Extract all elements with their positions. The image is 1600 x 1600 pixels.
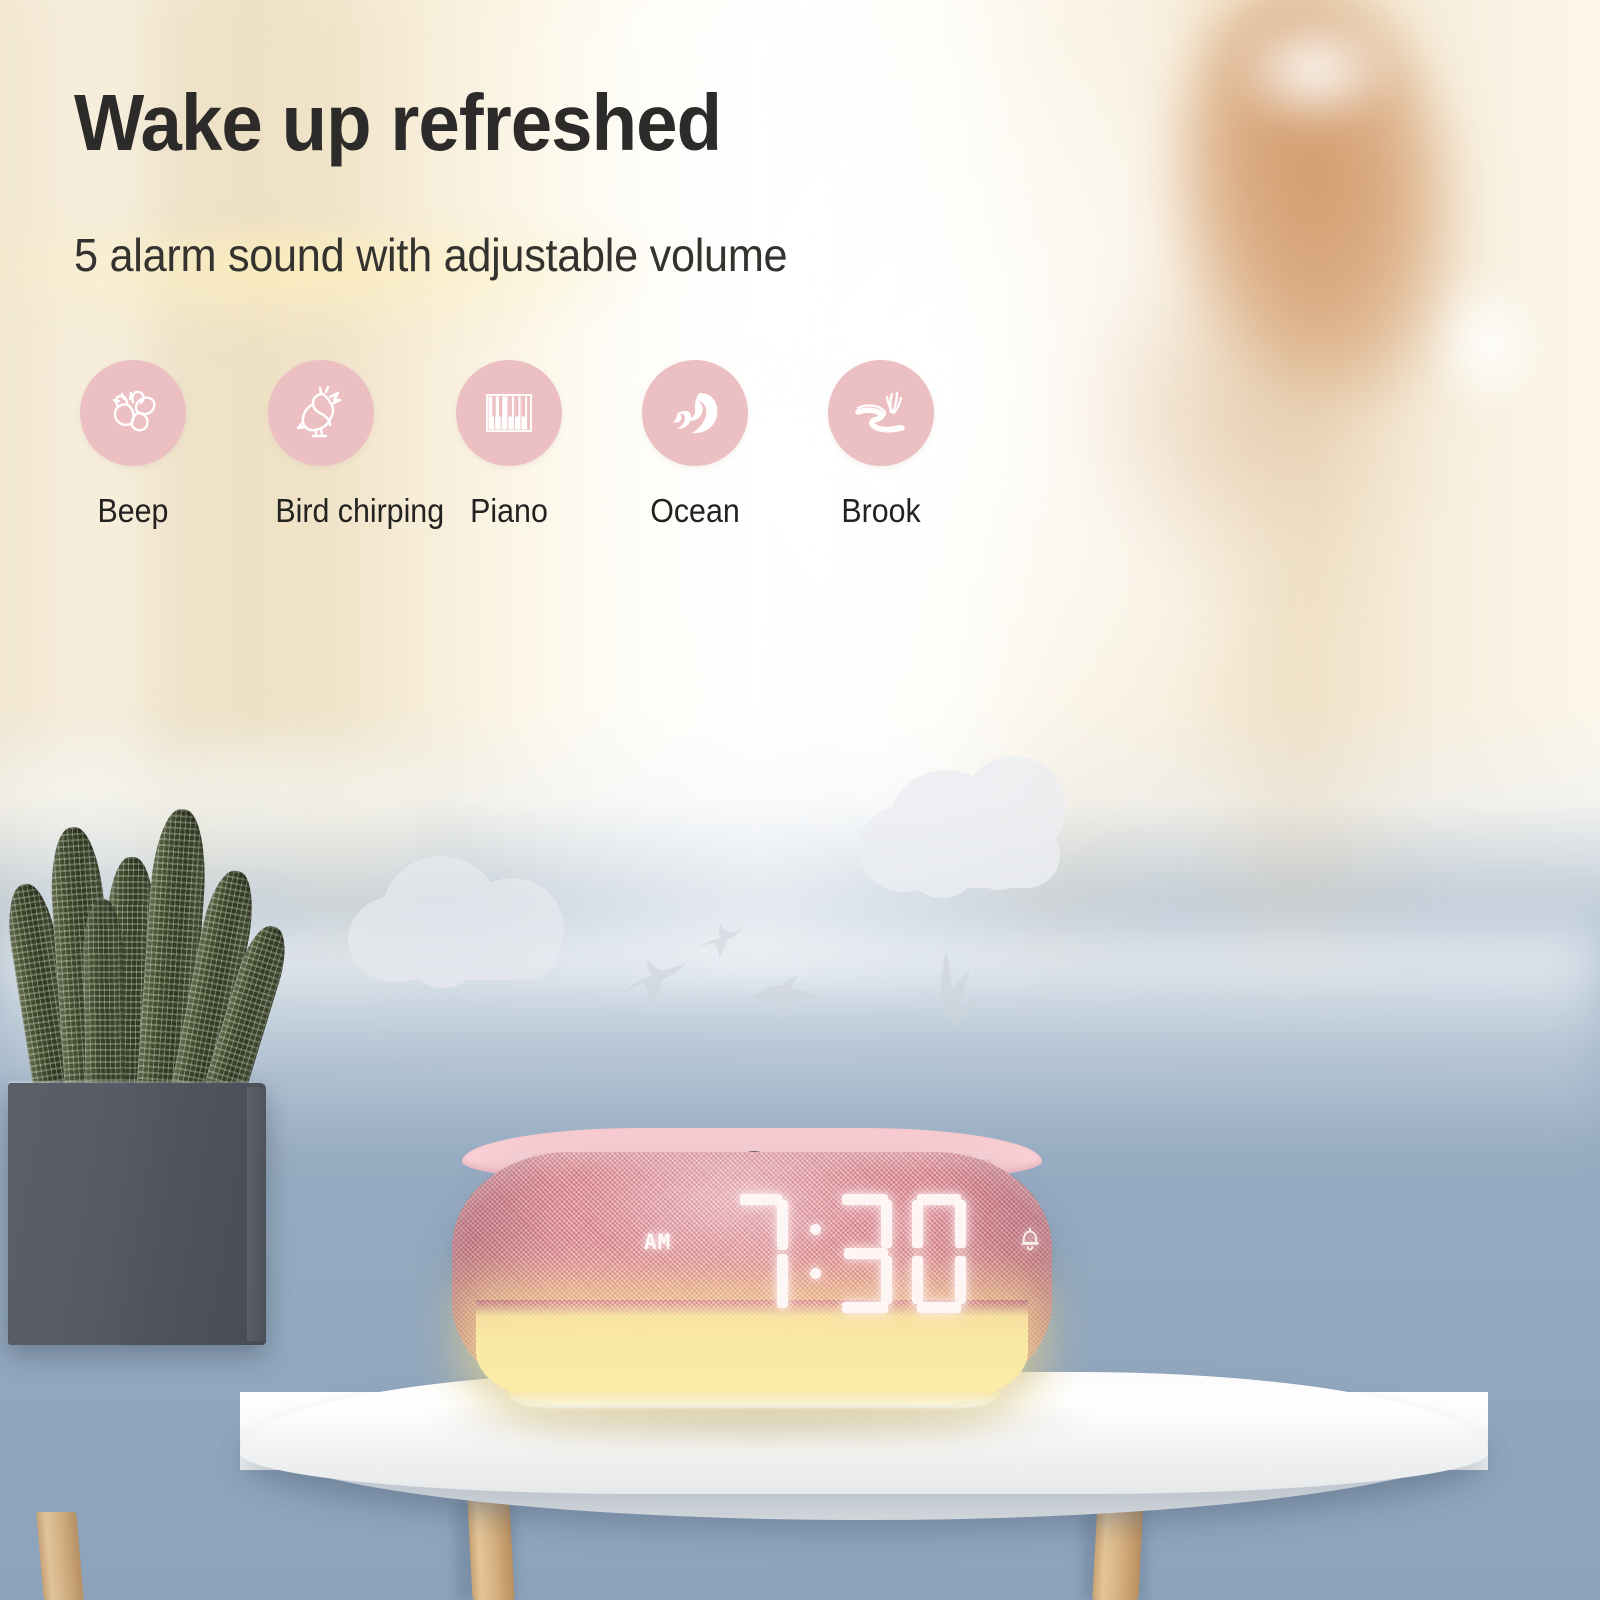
bird-decor-4 xyxy=(930,950,986,1030)
sound-option-bird[interactable]: Bird chirping xyxy=(268,360,451,530)
body-highlight xyxy=(582,1158,882,1268)
cactus-plant xyxy=(0,795,300,1395)
bee-icon-circle xyxy=(80,360,186,466)
bird-decor-1 xyxy=(618,950,690,1012)
bird-decor-3 xyxy=(750,975,828,1025)
night-light-base[interactable] xyxy=(476,1300,1028,1404)
highlight-glow-right xyxy=(1430,270,1550,420)
cactus-stems xyxy=(14,795,274,1095)
product-marketing-image: AM xyxy=(0,0,1600,1600)
sound-label-beep: Beep xyxy=(84,492,182,530)
table-leg-1 xyxy=(467,1500,514,1600)
alarm-sound-list: Beep xyxy=(68,360,968,550)
table-leg-3 xyxy=(36,1512,84,1600)
piano-icon xyxy=(480,385,538,441)
page-subtitle: 5 alarm sound with adjustable volume xyxy=(74,232,787,278)
wave-icon-circle xyxy=(642,360,748,466)
brook-icon xyxy=(850,382,912,444)
wave-icon xyxy=(664,382,726,444)
page-title: Wake up refreshed xyxy=(74,83,721,163)
bird-decor-2 xyxy=(696,918,744,960)
brook-icon-circle xyxy=(828,360,934,466)
sound-option-brook[interactable]: Brook xyxy=(828,360,934,530)
bird-icon xyxy=(290,382,352,444)
cloud-decor-left xyxy=(348,838,588,978)
device-foot xyxy=(508,1392,1000,1408)
sound-option-piano[interactable]: Piano xyxy=(456,360,562,530)
sound-option-ocean[interactable]: Ocean xyxy=(642,360,748,530)
bird-icon-circle xyxy=(268,360,374,466)
piano-icon-circle xyxy=(456,360,562,466)
sound-option-beep[interactable]: Beep xyxy=(80,360,186,530)
sound-label-piano: Piano xyxy=(460,492,558,530)
cloud-decor-right xyxy=(858,760,1078,895)
sound-label-brook: Brook xyxy=(832,492,930,530)
sound-label-bird: Bird chirping xyxy=(275,492,444,530)
sound-label-ocean: Ocean xyxy=(646,492,744,530)
bee-icon xyxy=(102,382,164,444)
alarm-clock-device[interactable]: AM xyxy=(452,1128,1052,1418)
highlight-glow-top xyxy=(1230,10,1400,130)
plant-pot xyxy=(8,1083,266,1345)
